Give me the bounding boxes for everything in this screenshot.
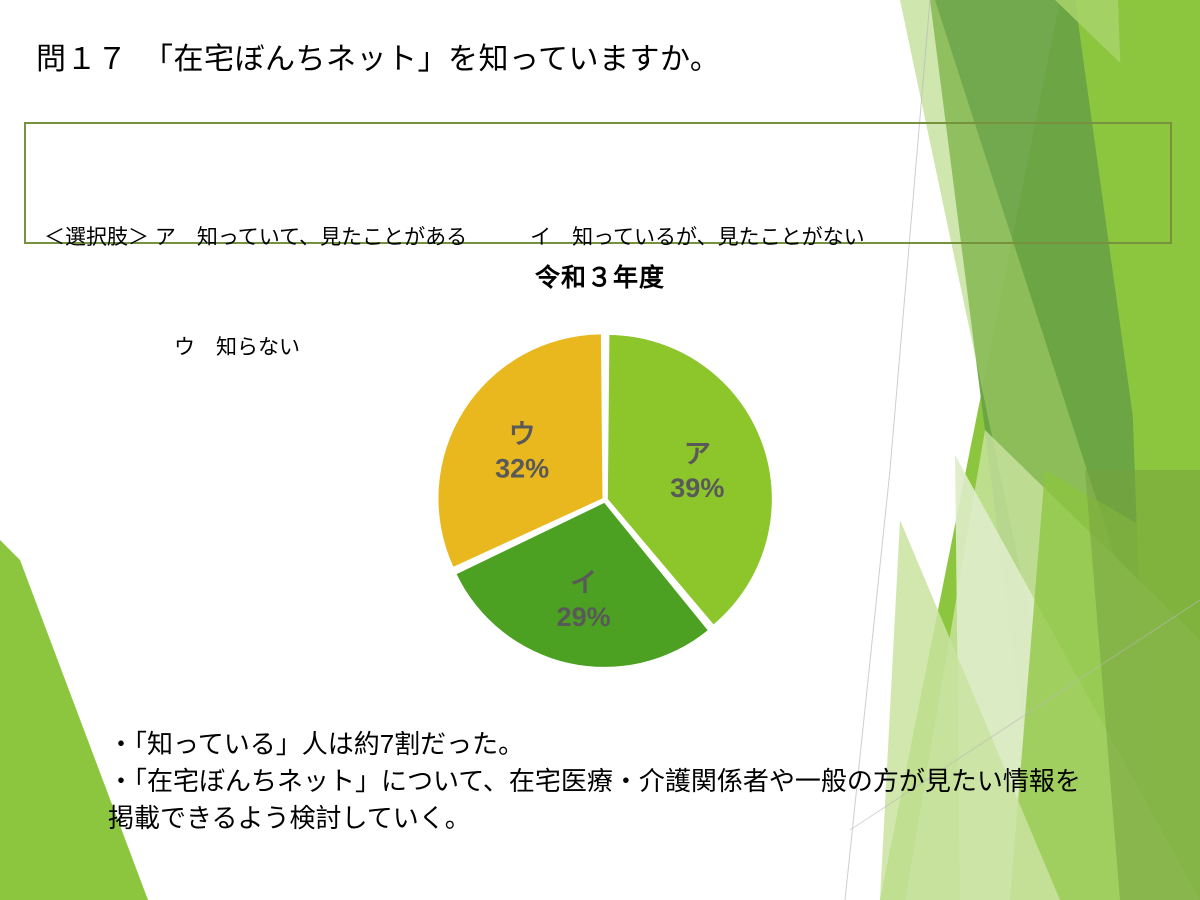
choices-box: ＜選択肢＞ ア 知っていて、見たことがある イ 知っているが、見たことがない ウ… bbox=[24, 122, 1172, 244]
pie-label-value-ア: 39% bbox=[670, 473, 724, 503]
notes-block: ・「知っている」人は約7割だった。 ・「在宅ぼんちネット」について、在宅医療・介… bbox=[108, 726, 1168, 837]
pie-chart: 令和３年度 ア39%イ29%ウ32% bbox=[0, 258, 1200, 688]
chart-title: 令和３年度 bbox=[0, 258, 1200, 294]
slide: 問１７ 「在宅ぼんちネット」を知っていますか。 ＜選択肢＞ ア 知っていて、見た… bbox=[0, 0, 1200, 900]
pie-graphic: ア39%イ29%ウ32% bbox=[435, 330, 775, 670]
pie-label-value-イ: 29% bbox=[557, 602, 611, 632]
note-line-3: 掲載できるよう検討していく。 bbox=[108, 800, 1168, 837]
note-line-2: ・「在宅ぼんちネット」について、在宅医療・介護関係者や一般の方が見たい情報を bbox=[108, 763, 1168, 800]
pie-label-value-ウ: 32% bbox=[495, 453, 549, 483]
pie-label-key-イ: イ bbox=[570, 568, 597, 598]
pie-label-key-ウ: ウ bbox=[509, 419, 536, 449]
page-title: 問１７ 「在宅ぼんちネット」を知っていますか。 bbox=[36, 40, 720, 79]
pie-svg: ア39%イ29%ウ32% bbox=[435, 330, 775, 670]
pie-label-key-ア: ア bbox=[684, 439, 711, 469]
choices-line-1: ＜選択肢＞ ア 知っていて、見たことがある イ 知っているが、見たことがない bbox=[44, 220, 865, 257]
note-line-1: ・「知っている」人は約7割だった。 bbox=[108, 726, 1168, 763]
